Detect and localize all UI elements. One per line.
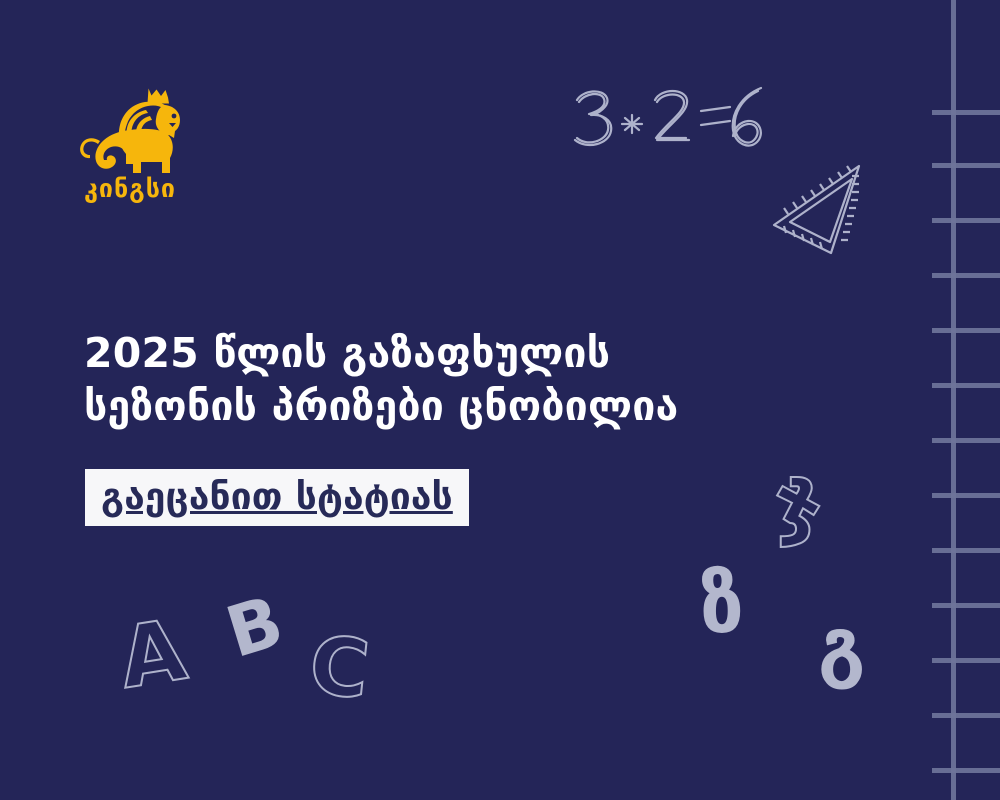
grid-horizontal-line — [932, 603, 1000, 608]
read-article-cta[interactable]: გაეცანით სტატიას — [85, 469, 469, 526]
math-equation-decoration — [565, 78, 765, 177]
banner-headline: 2025 წლის გაზაფხულის სეზონის პრიზები ცნო… — [84, 327, 874, 432]
latin-letter-b-decoration: B — [219, 586, 290, 669]
letter-c-icon: C — [306, 625, 373, 711]
brand-wordmark: კინგსი — [70, 176, 190, 201]
letter-a-icon: A — [114, 607, 191, 700]
georgian-letter-jan-icon: ჯ — [775, 455, 821, 541]
georgian-letter-zan-icon: ზ — [700, 565, 744, 645]
latin-letter-c-decoration: C — [306, 625, 373, 711]
grid-horizontal-line — [932, 110, 1000, 115]
grid-horizontal-line — [932, 713, 1000, 718]
grid-horizontal-line — [932, 768, 1000, 773]
grid-horizontal-line — [932, 163, 1000, 168]
georgian-letter-outline-decoration: ჯ — [775, 455, 821, 541]
georgian-letter-solid-decoration-2: გ — [818, 608, 865, 684]
brand-logo[interactable]: კინგსი — [70, 78, 190, 201]
grid-horizontal-line — [932, 493, 1000, 498]
grid-vertical-line — [951, 0, 956, 800]
letter-b-icon: B — [219, 586, 290, 669]
grid-horizontal-line — [932, 328, 1000, 333]
equation-3x2-equals-6-icon — [565, 78, 765, 173]
latin-letter-a-decoration: A — [114, 607, 191, 700]
grid-horizontal-line — [932, 658, 1000, 663]
headline-line-2: სეზონის პრიზები ცნობილია — [84, 380, 874, 432]
grid-horizontal-line — [932, 218, 1000, 223]
notebook-grid-decoration — [920, 0, 1000, 800]
georgian-letter-gan-icon: გ — [818, 608, 865, 684]
promo-banner: კინგსი 2025 წლის გაზაფხულის სეზონის პრიზ… — [0, 0, 1000, 800]
grid-horizontal-line — [932, 548, 1000, 553]
grid-horizontal-line — [932, 438, 1000, 443]
ruler-decoration — [758, 150, 878, 274]
grid-horizontal-line — [932, 383, 1000, 388]
triangle-ruler-icon — [758, 150, 878, 270]
crowned-lion-icon — [70, 78, 190, 174]
headline-line-1: 2025 წლის გაზაფხულის — [84, 327, 874, 379]
grid-horizontal-line — [932, 273, 1000, 278]
georgian-letter-solid-decoration-1: ზ — [700, 565, 744, 645]
